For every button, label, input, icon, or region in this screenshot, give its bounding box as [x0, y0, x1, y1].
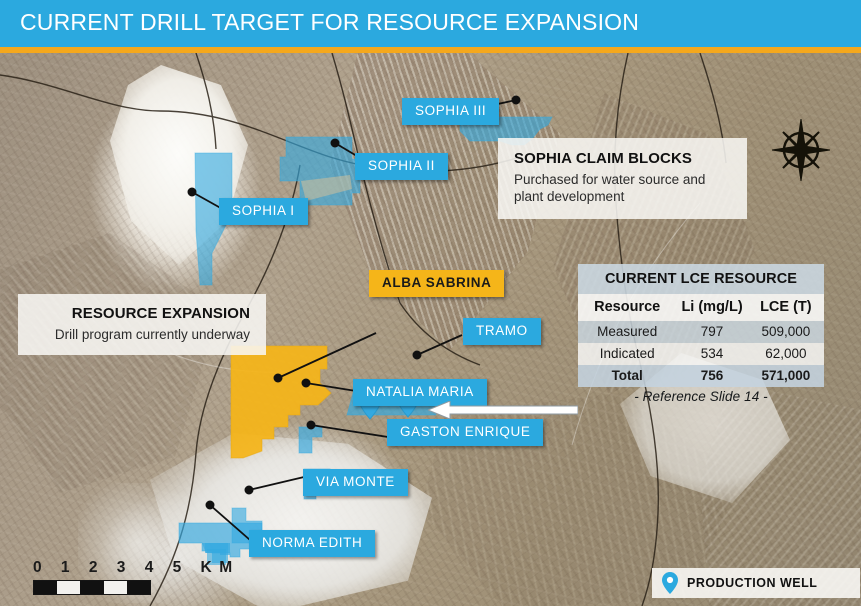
cell-resource: Measured	[578, 321, 676, 343]
map-label-norma-edith[interactable]: NORMA EDITH	[249, 530, 375, 557]
expansion-polygon-alba-sabrina	[231, 346, 331, 458]
map-pin-icon	[662, 572, 678, 594]
cell-li: 534	[676, 343, 747, 365]
map-label-gaston-enrique[interactable]: GASTON ENRIQUE	[387, 419, 543, 446]
scale-segment	[34, 581, 57, 594]
scale-bar-segments	[33, 580, 151, 595]
scale-bar-labels: 0 1 2 3 4 5 KM	[33, 560, 240, 576]
salt-flat	[110, 65, 260, 265]
table-header-row: Resource Li (mg/L) LCE (T)	[578, 294, 824, 321]
table-row: Indicated 534 62,000	[578, 343, 824, 365]
column-header-lce: LCE (T)	[748, 294, 824, 321]
cell-lce: 571,000	[748, 365, 824, 387]
resource-table-reference: - Reference Slide 14 -	[578, 389, 824, 404]
cell-lce: 62,000	[748, 343, 824, 365]
map-scale-bar: 0 1 2 3 4 5 KM	[33, 560, 240, 595]
scale-segment	[57, 581, 80, 594]
map-label-sophia-iii[interactable]: SOPHIA III	[402, 98, 499, 125]
slide-root: CURRENT DRILL TARGET FOR RESOURCE EXPANS…	[0, 0, 861, 606]
map-legend: PRODUCTION WELL	[652, 568, 860, 598]
resource-table-title: CURRENT LCE RESOURCE	[578, 264, 824, 294]
map-label-tramo[interactable]: TRAMO	[463, 318, 541, 345]
mountain-ridge	[0, 233, 250, 493]
cell-resource: Indicated	[578, 343, 676, 365]
slide-header: CURRENT DRILL TARGET FOR RESOURCE EXPANS…	[0, 0, 861, 47]
claim-polygon-norma-edith-tail	[202, 543, 230, 555]
map-label-sophia-ii[interactable]: SOPHIA II	[355, 153, 448, 180]
table-row: Measured 797 509,000	[578, 321, 824, 343]
map-label-via-monte[interactable]: VIA MONTE	[303, 469, 408, 496]
map-label-alba-sabrina[interactable]: ALBA SABRINA	[369, 270, 504, 297]
cell-li: 756	[676, 365, 747, 387]
legend-label: PRODUCTION WELL	[687, 576, 817, 590]
scale-segment	[104, 581, 127, 594]
scale-segment	[80, 581, 103, 594]
callout-body: Purchased for water source and plant dev…	[514, 171, 731, 206]
table-row-total: Total 756 571,000	[578, 365, 824, 387]
callout-resource-expansion: RESOURCE EXPANSION Drill program current…	[18, 294, 266, 355]
callout-title: SOPHIA CLAIM BLOCKS	[514, 150, 731, 169]
resource-table-grid: Resource Li (mg/L) LCE (T) Measured 797 …	[578, 294, 824, 387]
scale-segment	[127, 581, 150, 594]
header-accent-rule	[0, 47, 861, 53]
cell-li: 797	[676, 321, 747, 343]
callout-title: RESOURCE EXPANSION	[34, 305, 250, 324]
callout-sophia-claim-blocks: SOPHIA CLAIM BLOCKS Purchased for water …	[498, 138, 747, 219]
compass-rose-icon	[772, 119, 830, 181]
column-header-resource: Resource	[578, 294, 676, 321]
cell-lce: 509,000	[748, 321, 824, 343]
resource-table: CURRENT LCE RESOURCE Resource Li (mg/L) …	[578, 264, 824, 387]
cell-resource: Total	[578, 365, 676, 387]
claim-polygon-sophia-ii-b	[301, 175, 352, 201]
drill-target-arrow-icon	[428, 401, 578, 419]
claim-polygon-sophia-ii	[280, 137, 360, 205]
callout-body: Drill program currently underway	[34, 326, 250, 343]
claim-polygon-natalia-maria	[299, 427, 322, 453]
page-title: CURRENT DRILL TARGET FOR RESOURCE EXPANS…	[20, 9, 639, 36]
column-header-li: Li (mg/L)	[676, 294, 747, 321]
map-label-sophia-i[interactable]: SOPHIA I	[219, 198, 308, 225]
